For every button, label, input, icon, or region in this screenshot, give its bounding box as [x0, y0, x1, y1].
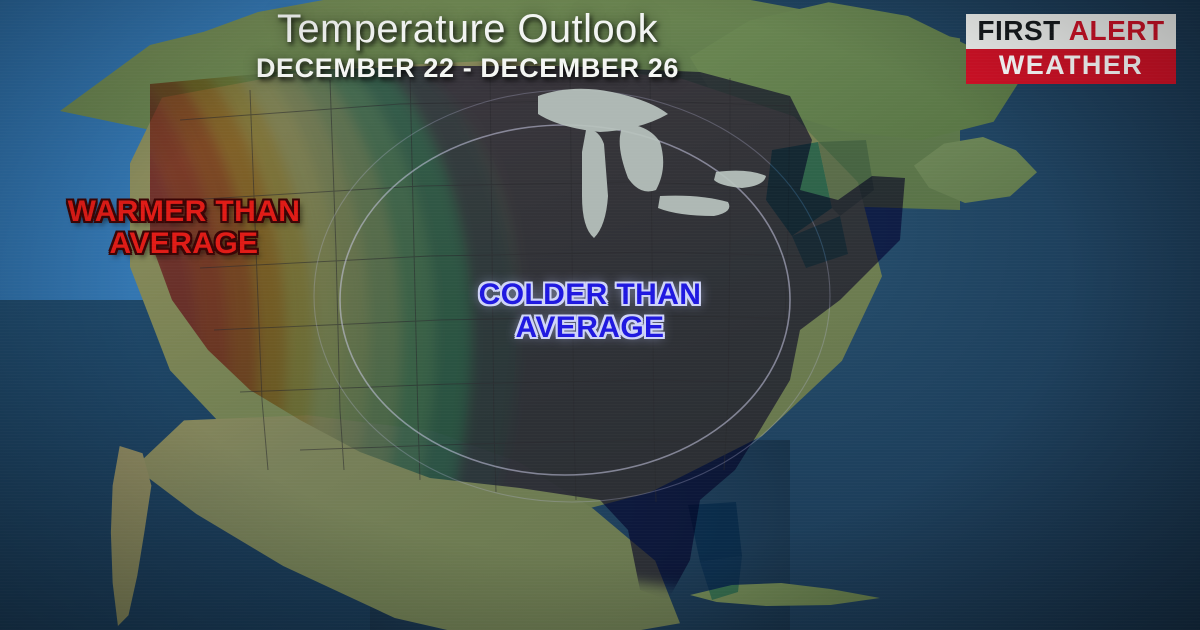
- page-title: Temperature Outlook: [0, 8, 935, 51]
- logo-alert-text: ALERT: [1069, 15, 1165, 46]
- logo-top-bar: FIRSTALERT: [966, 14, 1176, 49]
- warmer-than-average-label: WARMER THAN AVERAGE: [34, 196, 334, 261]
- first-alert-weather-logo: FIRSTALERT WEATHER: [966, 14, 1176, 84]
- colder-than-average-label: COLDER THAN AVERAGE: [430, 278, 750, 344]
- warm-label-line1: WARMER THAN: [34, 196, 334, 228]
- florida-outlook: [688, 502, 742, 600]
- logo-first-text: FIRST: [977, 15, 1060, 46]
- title-block: Temperature Outlook DECEMBER 22 - DECEMB…: [0, 8, 935, 84]
- warm-label-line2: AVERAGE: [34, 228, 334, 260]
- weather-graphic: Temperature Outlook DECEMBER 22 - DECEMB…: [0, 0, 1200, 630]
- cold-label-line1: COLDER THAN: [430, 278, 750, 311]
- date-range: DECEMBER 22 - DECEMBER 26: [0, 53, 935, 84]
- cold-label-line2: AVERAGE: [430, 311, 750, 344]
- logo-weather-text: WEATHER: [966, 49, 1176, 84]
- florida-band-lower: [700, 556, 742, 600]
- florida-band-upper: [688, 502, 742, 562]
